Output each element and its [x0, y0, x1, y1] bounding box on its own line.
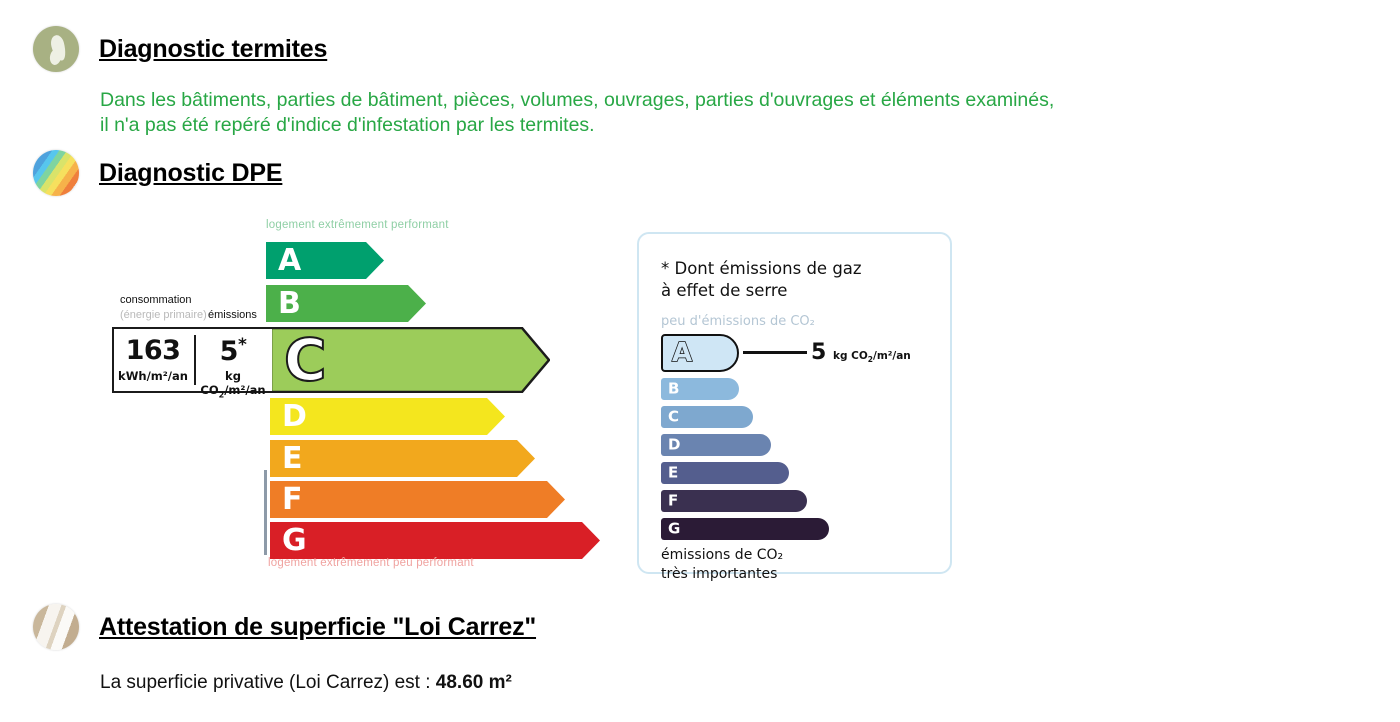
co2-value: 5	[811, 340, 826, 365]
energy-scale-left-rule	[264, 470, 267, 555]
termites-paragraph-line-2: il n'a pas été repéré d'indice d'infesta…	[100, 113, 1054, 138]
termites-paragraph-line-1: Dans les bâtiments, parties de bâtiment,…	[100, 88, 1054, 113]
consumption-unit: kWh/m²/an	[114, 369, 192, 383]
plan-roll-icon	[33, 604, 79, 650]
co2-bar-F-label: F	[668, 494, 678, 509]
co2-bar-B: B	[661, 378, 739, 400]
energy-bar-F-shape	[270, 481, 565, 518]
emissions-label: émissions	[208, 309, 257, 321]
energy-bar-E-label: E	[282, 444, 303, 474]
co2-bar-A-selected: A	[661, 334, 739, 372]
carrez-surface-text: La superficie privative (Loi Carrez) est…	[100, 672, 512, 694]
co2-unit-suffix: /m²/an	[873, 350, 911, 362]
co2-emissions-chart: * Dont émissions de gaz à effet de serre…	[637, 232, 952, 574]
dpe-report-page: Diagnostic termites Dans les bâtiments, …	[0, 0, 1400, 722]
energy-bar-A-label: A	[278, 246, 301, 276]
co2-bar-F: F	[661, 490, 807, 512]
energy-scale-caption-bottom: logement extrêmement peu performant	[268, 557, 474, 569]
rainbow-dpe-icon	[33, 150, 79, 196]
section-header-termites: Diagnostic termites	[33, 26, 327, 72]
consumption-value-box: 163 kWh/m²/an 5* kg CO2/m²/an	[112, 327, 272, 393]
co2-caption-top: peu d'émissions de CO₂	[661, 314, 815, 329]
energy-bar-B-label: B	[278, 289, 301, 319]
energy-bar-G-label: G	[282, 526, 307, 556]
co2-caption-bottom-line-1: émissions de CO₂	[661, 546, 783, 565]
energy-bar-A: A	[266, 242, 384, 279]
energy-bar-C-selected: C	[270, 327, 550, 393]
energy-bar-C-label: C	[284, 331, 327, 389]
termite-icon	[33, 26, 79, 72]
page-title-termites: Diagnostic termites	[99, 35, 327, 64]
co2-bar-G-label: G	[668, 522, 680, 537]
emissions-value: 5	[220, 336, 238, 367]
co2-bar-E: E	[661, 462, 789, 484]
emissions-value-group: 5*	[194, 335, 272, 367]
energy-bar-F: F	[270, 481, 565, 518]
co2-caption-bottom-line-2: très importantes	[661, 565, 783, 584]
co2-caption-bottom: émissions de CO₂ très importantes	[661, 546, 783, 584]
co2-bar-A-label: A	[672, 340, 692, 366]
energy-bar-E: E	[270, 440, 535, 477]
page-title-carrez: Attestation de superficie "Loi Carrez"	[99, 613, 536, 642]
emissions-unit-suffix: /m²/an	[224, 383, 265, 397]
emissions-star: *	[238, 335, 246, 355]
co2-bar-B-label: B	[668, 382, 679, 397]
co2-panel-title-line-2: à effet de serre	[661, 280, 862, 302]
consumption-label-line-2: (énergie primaire)	[120, 309, 207, 321]
co2-value-unit: kg CO2/m²/an	[833, 350, 911, 364]
carrez-text-prefix: La superficie privative (Loi Carrez) est…	[100, 672, 436, 693]
co2-panel-title: * Dont émissions de gaz à effet de serre	[661, 258, 862, 302]
energy-bar-B: B	[266, 285, 426, 322]
co2-bar-C: C	[661, 406, 753, 428]
section-header-dpe: Diagnostic DPE	[33, 150, 282, 196]
carrez-surface-value: 48.60 m²	[436, 672, 512, 693]
co2-bar-D-label: D	[668, 438, 680, 453]
co2-bar-C-label: C	[668, 410, 679, 425]
energy-bar-E-shape	[270, 440, 535, 477]
co2-bar-D: D	[661, 434, 771, 456]
co2-bar-E-label: E	[668, 466, 678, 481]
energy-bar-F-label: F	[282, 485, 303, 515]
page-title-dpe: Diagnostic DPE	[99, 159, 282, 188]
energy-bar-D-label: D	[282, 402, 307, 432]
co2-unit-prefix: kg CO	[833, 350, 868, 362]
energy-bar-G: G	[270, 522, 600, 559]
co2-bar-G: G	[661, 518, 829, 540]
emissions-unit: kg CO2/m²/an	[194, 369, 272, 399]
consumption-label-line-1: consommation	[120, 294, 192, 306]
co2-leader-line	[743, 351, 807, 354]
termites-paragraph: Dans les bâtiments, parties de bâtiment,…	[100, 88, 1054, 138]
section-header-carrez: Attestation de superficie "Loi Carrez"	[33, 604, 536, 650]
energy-bar-D: D	[270, 398, 505, 435]
co2-panel-title-line-1: * Dont émissions de gaz	[661, 258, 862, 280]
energy-bar-G-shape	[270, 522, 600, 559]
consumption-value: 163	[114, 335, 192, 366]
energy-scale-caption-top: logement extrêmement performant	[266, 219, 449, 231]
